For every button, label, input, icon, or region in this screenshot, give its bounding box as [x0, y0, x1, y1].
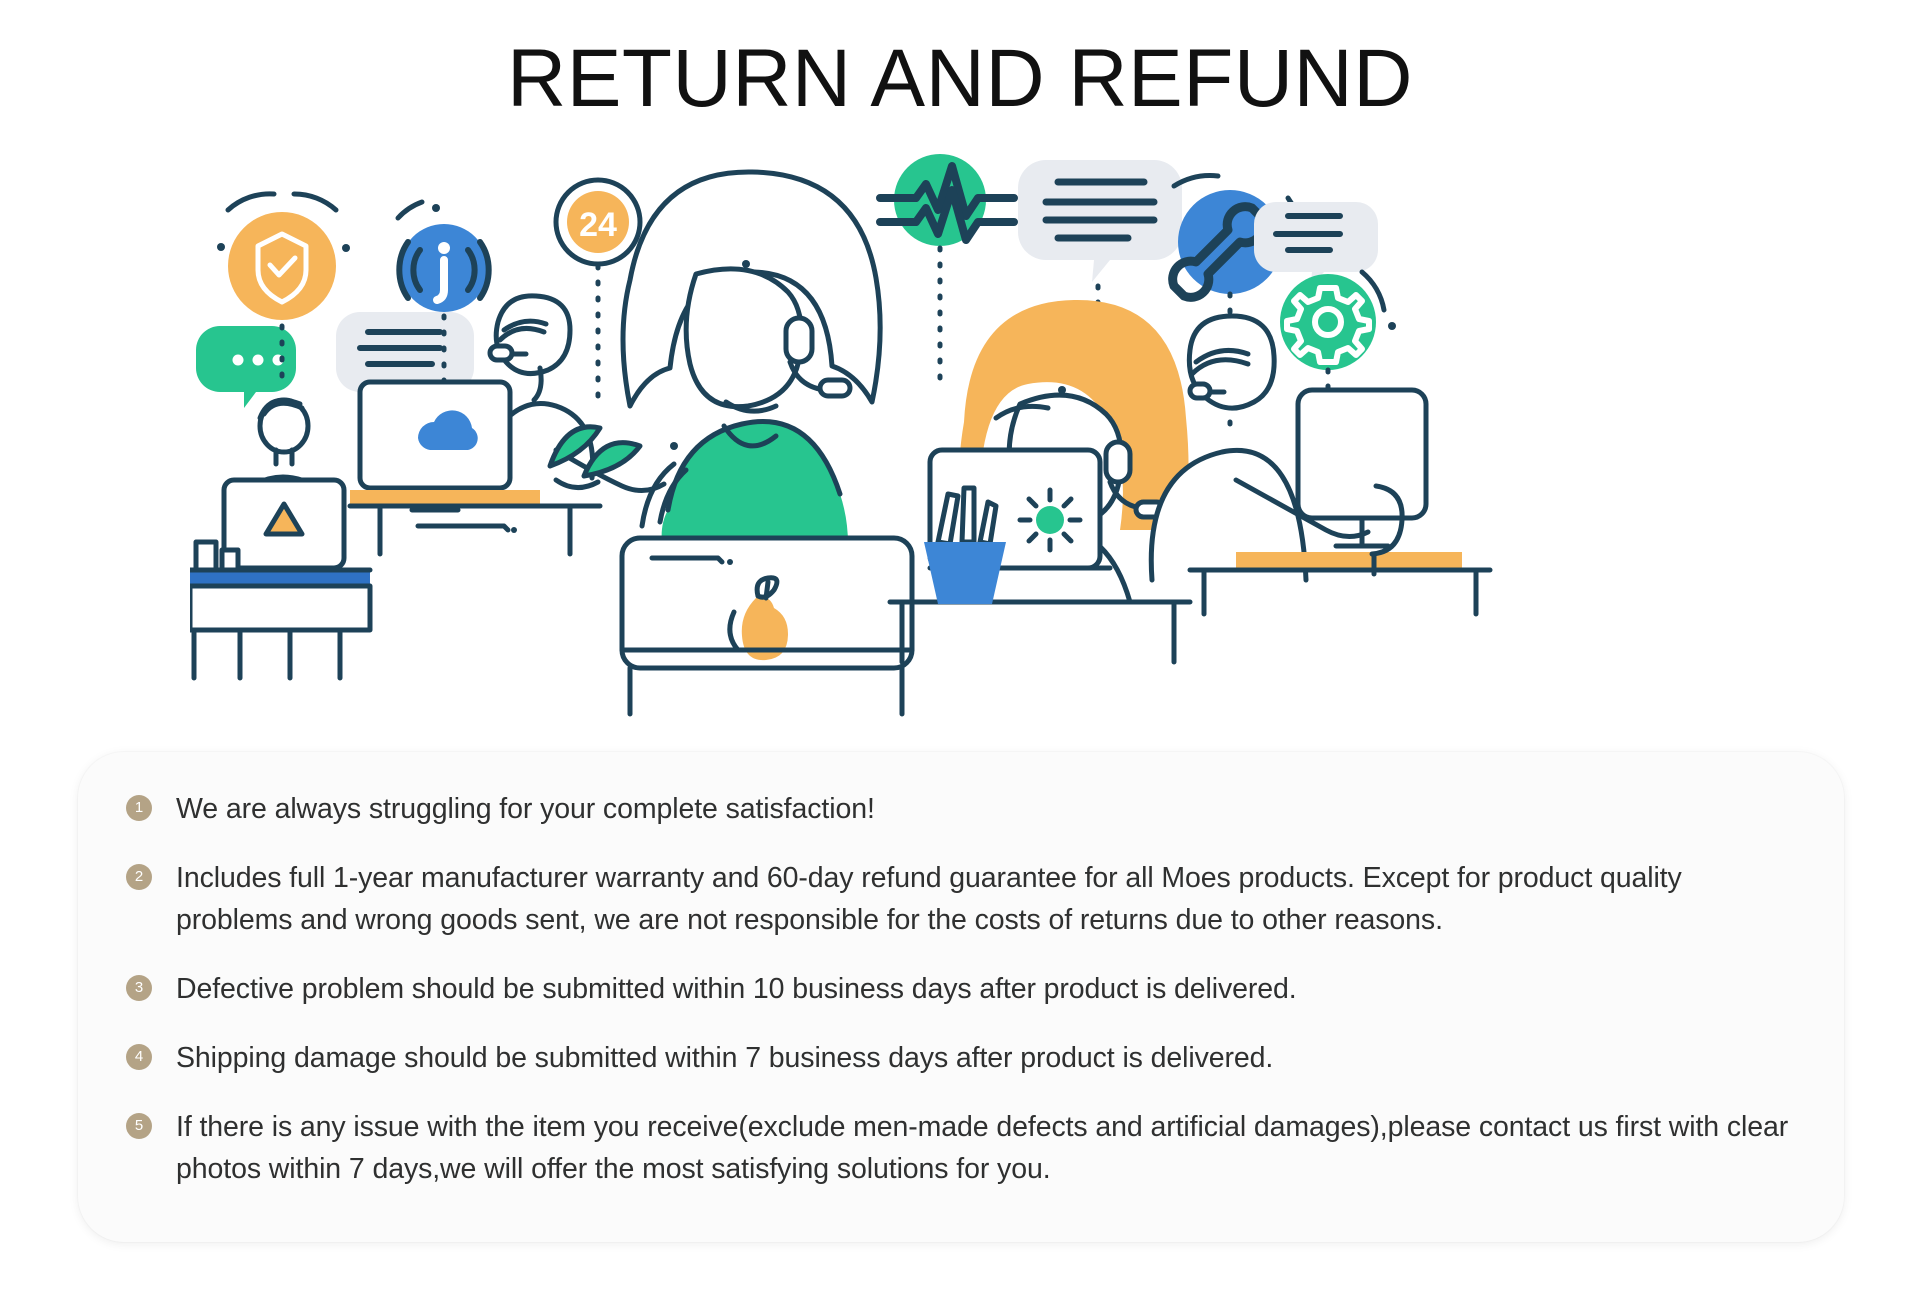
list-item: 3 Defective problem should be submitted …: [126, 968, 1804, 1010]
speech-bubble-lines-icon-2: [1018, 160, 1182, 282]
shield-check-icon: [217, 194, 350, 320]
list-item-text: Includes full 1-year manufacturer warran…: [176, 857, 1804, 941]
list-item-text: We are always struggling for your comple…: [176, 788, 875, 830]
agent-right: [890, 300, 1190, 662]
list-item-number: 2: [126, 864, 152, 890]
list-item-text: Shipping damage should be submitted with…: [176, 1037, 1273, 1079]
policy-card: 1 We are always struggling for your comp…: [78, 752, 1844, 1242]
pulse-wave-icon: [880, 154, 1014, 246]
hours-badge-24: 24: [556, 180, 640, 264]
list-item: 2 Includes full 1-year manufacturer warr…: [126, 857, 1804, 941]
return-refund-page: RETURN AND REFUND: [0, 0, 1920, 1297]
list-item: 1 We are always struggling for your comp…: [126, 788, 1804, 830]
policy-list: 1 We are always struggling for your comp…: [126, 788, 1804, 1190]
list-item-text: Defective problem should be submitted wi…: [176, 968, 1297, 1010]
list-item: 5 If there is any issue with the item yo…: [126, 1106, 1804, 1190]
list-item-number: 1: [126, 795, 152, 821]
list-item-number: 5: [126, 1113, 152, 1139]
badge-24-label: 24: [579, 206, 617, 244]
page-title: RETURN AND REFUND: [0, 38, 1920, 120]
speech-bubble-small-icon: [1254, 202, 1378, 288]
list-item-number: 3: [126, 975, 152, 1001]
customer-support-illustration: 24: [190, 150, 1730, 730]
chat-dots-icon: [196, 326, 296, 408]
list-item: 4 Shipping damage should be submitted wi…: [126, 1037, 1804, 1079]
list-item-text: If there is any issue with the item you …: [176, 1106, 1804, 1190]
brightness-icon: [1020, 490, 1080, 550]
info-signal-icon: [398, 202, 489, 312]
gear-icon: [1280, 272, 1396, 370]
list-item-number: 4: [126, 1044, 152, 1070]
agent-center: [622, 172, 912, 714]
